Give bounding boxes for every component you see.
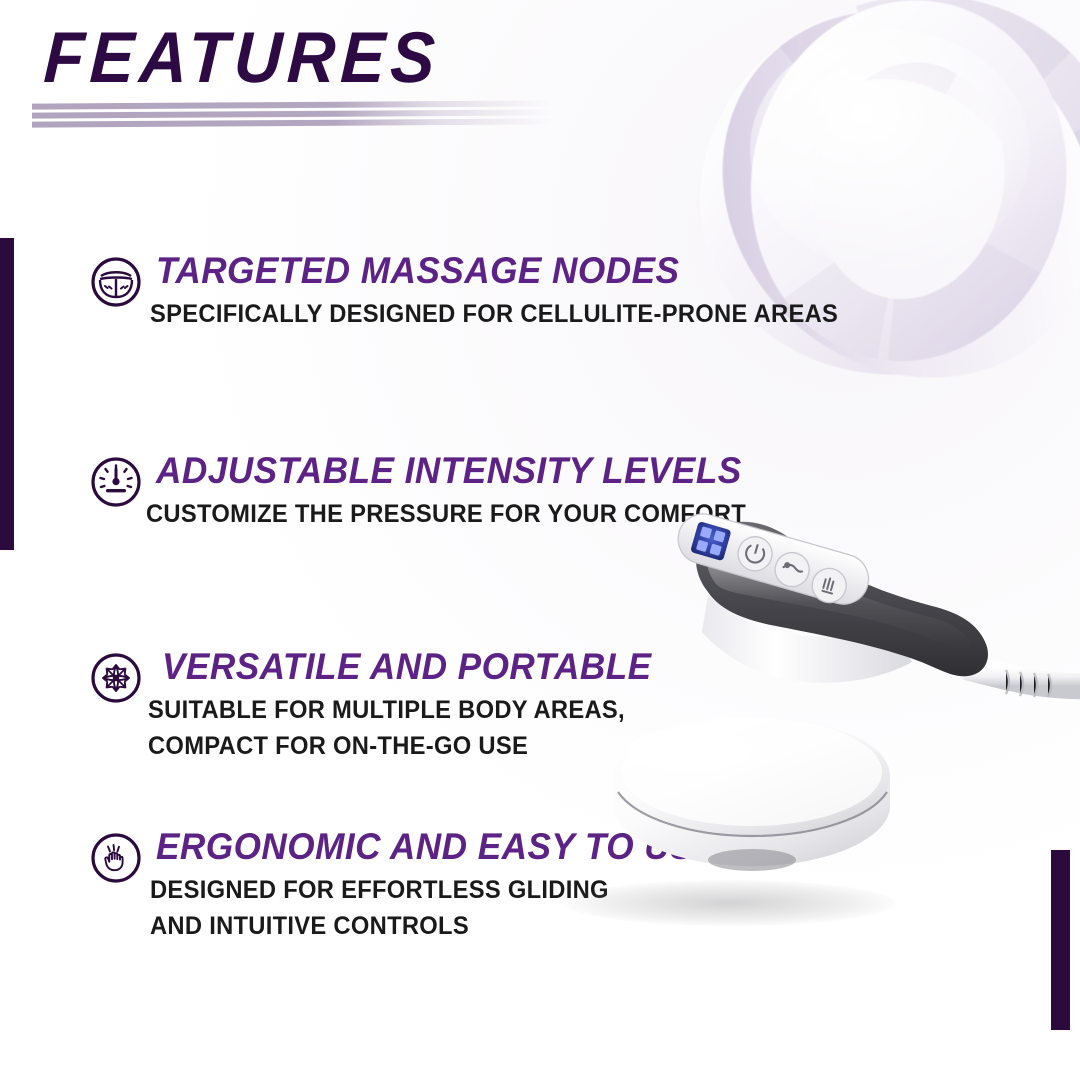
feature-text: TARGETED MASSAGE NODES SPECIFICALLY DESI…	[156, 252, 874, 332]
handheld-body-massager	[540, 420, 1080, 940]
buttocks-body-area-icon	[90, 256, 142, 308]
feature-item: TARGETED MASSAGE NODES SPECIFICALLY DESI…	[90, 252, 874, 332]
infographic-page: FEATURES TARGETED MASSAGE NODES SPECIFIC…	[0, 0, 1080, 1080]
feature-heading: TARGETED MASSAGE NODES	[156, 252, 838, 291]
hand-gesture-icon	[90, 832, 142, 884]
gauge-intensity-icon	[90, 456, 142, 508]
feature-subtitle-line: SPECIFICALLY DESIGNED FOR CELLULITE-PRON…	[150, 298, 838, 332]
multi-direction-arrows-icon	[90, 652, 142, 704]
